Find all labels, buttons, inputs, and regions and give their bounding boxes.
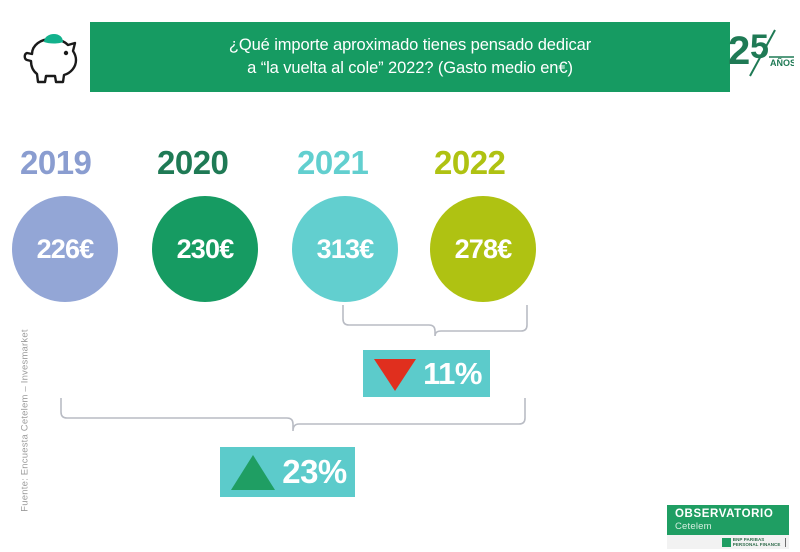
increase-badge: 23% xyxy=(220,447,355,497)
value-label-2020: 230€ xyxy=(177,234,234,265)
bnp-square-icon xyxy=(722,538,731,547)
decrease-badge: 11% xyxy=(363,350,490,397)
value-label-2021: 313€ xyxy=(317,234,374,265)
piggy-bank-icon xyxy=(18,26,84,88)
value-label-2019: 226€ xyxy=(37,234,94,265)
bnp-paribas-logo: BNP PARIBAS PERSONAL FINANCE xyxy=(722,537,786,547)
observatorio-cetelem-logo: OBSERVATORIO Cetelem BNP PARIBAS PERSONA… xyxy=(667,505,789,549)
triangle-up-icon xyxy=(228,451,278,493)
svg-text:AÑOS: AÑOS xyxy=(770,58,794,68)
year-label-2022: 2022 xyxy=(434,146,505,179)
triangle-down-icon xyxy=(371,354,419,394)
observatorio-logo-title: OBSERVATORIO xyxy=(675,508,789,521)
bnp-paribas-strip: BNP PARIBAS PERSONAL FINANCE xyxy=(667,535,789,549)
value-label-2022: 278€ xyxy=(455,234,512,265)
anniversary-25-years-logo: 2 5 AÑOS xyxy=(728,24,794,80)
value-circle-2020: 230€ xyxy=(152,196,258,302)
bnp-bar-icon xyxy=(785,538,787,547)
observatorio-logo-subtitle: Cetelem xyxy=(675,521,789,532)
value-circle-2021: 313€ xyxy=(292,196,398,302)
value-circle-2019: 226€ xyxy=(12,196,118,302)
decrease-percent-label: 11% xyxy=(423,356,482,392)
year-label-2019: 2019 xyxy=(20,146,91,179)
bracket-2019-2022 xyxy=(58,398,528,432)
bracket-2021-2022 xyxy=(340,305,530,337)
svg-text:2: 2 xyxy=(728,29,750,73)
value-circle-2022: 278€ xyxy=(430,196,536,302)
source-note: Fuente: Encuesta Cetelem – Invesmarket xyxy=(20,316,31,526)
year-label-2020: 2020 xyxy=(157,146,228,179)
page-title: ¿Qué importe aproximado tienes pensado d… xyxy=(229,34,591,80)
observatorio-logo-block: OBSERVATORIO Cetelem xyxy=(667,505,789,535)
bnp-line2: PERSONAL FINANCE xyxy=(733,542,781,547)
header-banner: ¿Qué importe aproximado tienes pensado d… xyxy=(90,22,730,92)
year-label-2021: 2021 xyxy=(297,146,368,179)
increase-percent-label: 23% xyxy=(282,453,347,491)
